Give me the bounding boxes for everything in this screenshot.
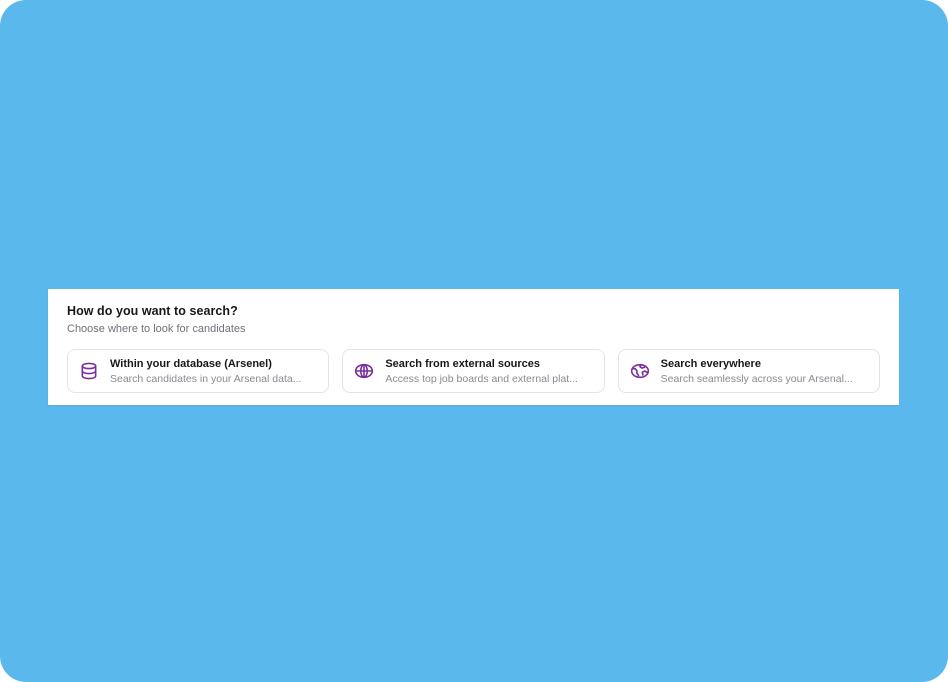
database-icon: [78, 360, 100, 382]
search-option-text: Search from external sources Access top …: [385, 357, 593, 386]
search-option-title: Search everywhere: [661, 357, 869, 371]
search-option-description: Search candidates in your Arsenal data..…: [110, 372, 318, 386]
search-option-everywhere[interactable]: Search everywhere Search seamlessly acro…: [618, 349, 880, 393]
search-mode-panel: How do you want to search? Choose where …: [48, 289, 899, 405]
panel-heading: How do you want to search?: [67, 304, 880, 319]
globe-hemisphere-icon: [629, 360, 651, 382]
search-option-external-sources[interactable]: Search from external sources Access top …: [342, 349, 604, 393]
search-option-text: Search everywhere Search seamlessly acro…: [661, 357, 869, 386]
search-option-title: Search from external sources: [385, 357, 593, 371]
search-option-description: Access top job boards and external plat.…: [385, 372, 593, 386]
search-mode-options: Within your database (Arsenel) Search ca…: [67, 349, 880, 393]
search-option-text: Within your database (Arsenel) Search ca…: [110, 357, 318, 386]
app-root: How do you want to search? Choose where …: [0, 0, 948, 682]
panel-subheading: Choose where to look for candidates: [67, 322, 880, 336]
search-option-within-database[interactable]: Within your database (Arsenel) Search ca…: [67, 349, 329, 393]
globe-icon: [353, 360, 375, 382]
search-option-description: Search seamlessly across your Arsenal...: [661, 372, 869, 386]
search-option-title: Within your database (Arsenel): [110, 357, 318, 371]
